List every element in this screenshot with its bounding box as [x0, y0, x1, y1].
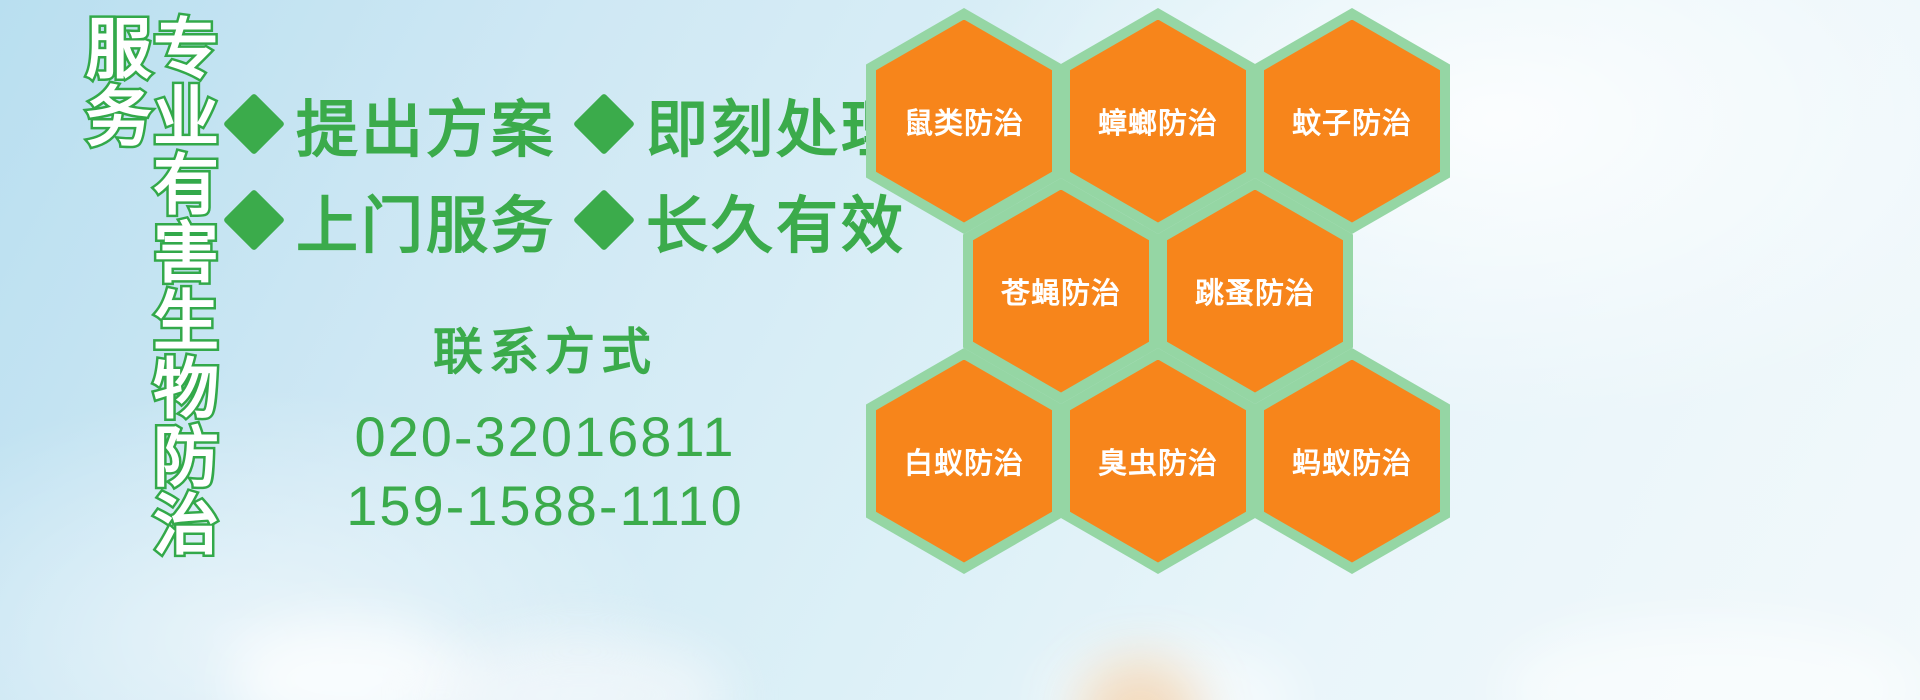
feature-label-door-to-door-service: 上门服务 — [296, 175, 556, 265]
feature-row: 提出方案 即刻处理 — [232, 76, 872, 172]
phone-number-mobile[interactable]: 159-1588-1110 — [310, 471, 780, 540]
diamond-icon — [223, 189, 285, 251]
diamond-icon — [223, 93, 285, 155]
diamond-icon — [573, 93, 635, 155]
hex-inner: 鼠类防治 — [876, 20, 1052, 223]
hex-label: 鼠类防治 — [904, 100, 1024, 142]
hex-label: 蟑螂防治 — [1098, 100, 1218, 142]
hex-inner: 臭虫防治 — [1070, 360, 1246, 563]
hex-label: 苍蝇防治 — [1001, 270, 1121, 312]
hex-inner: 跳蚤防治 — [1167, 190, 1343, 393]
hex-inner: 苍蝇防治 — [973, 190, 1149, 393]
hex-inner: 蚊子防治 — [1264, 20, 1440, 223]
hex-label: 臭虫防治 — [1098, 440, 1218, 482]
hex-inner: 蚂蚁防治 — [1264, 360, 1440, 563]
pest-control-banner: 专业有害生物防治服务 提出方案 即刻处理 上门服务 长久有效 联系方式 020-… — [0, 0, 1920, 700]
hex-label: 跳蚤防治 — [1195, 270, 1315, 312]
background-blob — [1080, 660, 1200, 700]
vertical-title: 专业有害生物防治服务 — [108, 14, 214, 574]
feature-label-propose-plan: 提出方案 — [296, 79, 556, 169]
background-blob — [230, 620, 470, 700]
background-blob — [1040, 640, 1300, 700]
hex-label: 蚂蚁防治 — [1292, 440, 1412, 482]
service-honeycomb: 鼠类防治 蟑螂防治 蚊子防治 苍蝇防治 跳蚤防治 白蚁防治 — [862, 0, 1462, 560]
hex-inner: 蟑螂防治 — [1070, 20, 1246, 223]
hex-inner: 白蚁防治 — [876, 360, 1052, 563]
diamond-icon — [573, 189, 635, 251]
feature-row: 上门服务 长久有效 — [232, 172, 872, 268]
feature-list: 提出方案 即刻处理 上门服务 长久有效 — [232, 76, 872, 268]
background-blob — [430, 635, 730, 700]
contact-section: 联系方式 020-32016811 159-1588-1110 — [310, 312, 780, 541]
phone-number-landline[interactable]: 020-32016811 — [310, 402, 780, 471]
hex-label: 蚊子防治 — [1292, 100, 1412, 142]
hex-label: 白蚁防治 — [904, 440, 1024, 482]
contact-title: 联系方式 — [310, 312, 780, 384]
background-blob — [1500, 620, 1920, 700]
